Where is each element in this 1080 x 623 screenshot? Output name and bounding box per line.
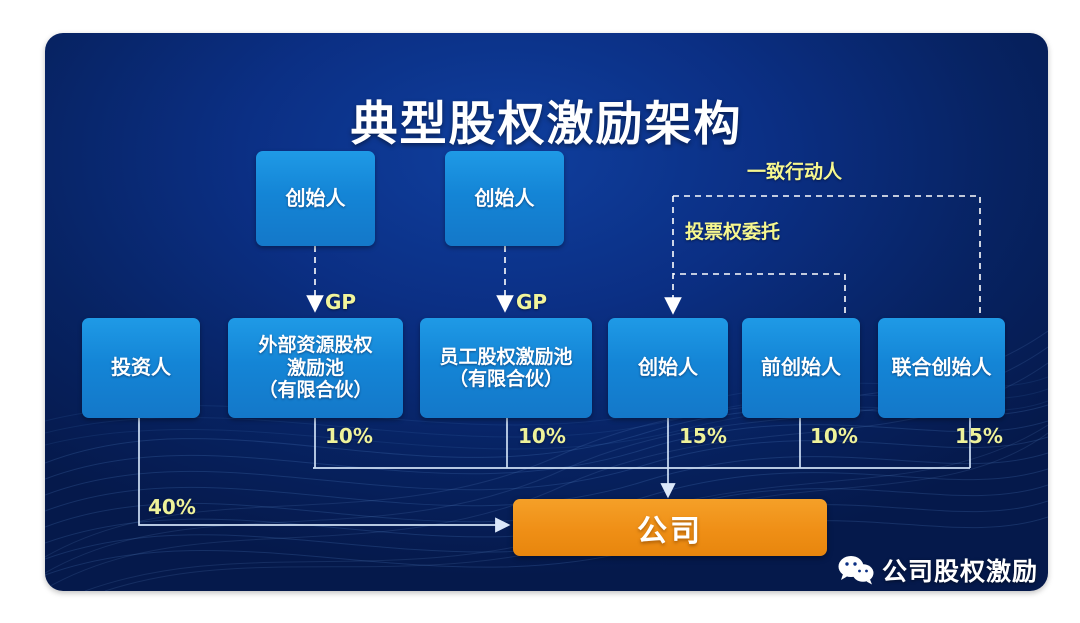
pct-co-founder: 15%	[955, 424, 1003, 448]
wechat-icon	[838, 555, 874, 585]
page-title: 典型股权激励架构	[45, 85, 1048, 154]
node-label: 创始人	[471, 187, 539, 211]
gp-label-1: GP	[325, 290, 356, 314]
pct-external-pool: 10%	[325, 424, 373, 448]
node-founder-2[interactable]: 创始人	[445, 151, 564, 246]
node-former-founder[interactable]: 前创始人	[742, 318, 860, 418]
slide-canvas: 典型股权激励架构 创始人 创始人 投资人 外部资源股权 激励池 （有限合伙） 员…	[0, 0, 1080, 623]
pct-founder: 15%	[679, 424, 727, 448]
node-employee-incentive-pool[interactable]: 员工股权激励池 （有限合伙）	[420, 318, 592, 418]
gp-label-2: GP	[516, 290, 547, 314]
node-investor[interactable]: 投资人	[82, 318, 200, 418]
node-label: 外部资源股权 激励池 （有限合伙）	[254, 334, 376, 401]
node-label: 联合创始人	[888, 356, 996, 380]
pct-employee-pool: 10%	[518, 424, 566, 448]
node-label: 投资人	[107, 356, 175, 380]
node-founder-3[interactable]: 创始人	[608, 318, 728, 418]
node-external-resource-pool[interactable]: 外部资源股权 激励池 （有限合伙）	[228, 318, 403, 418]
watermark: 公司股权激励	[838, 552, 1038, 588]
node-label: 创始人	[282, 187, 350, 211]
node-founder-1[interactable]: 创始人	[256, 151, 375, 246]
pct-investor: 40%	[148, 495, 196, 519]
node-label: 前创始人	[757, 356, 845, 380]
node-label: 员工股权激励池 （有限合伙）	[435, 346, 576, 391]
node-company[interactable]: 公司	[513, 499, 827, 556]
node-label: 创始人	[634, 356, 702, 380]
watermark-label: 公司股权激励	[882, 552, 1038, 588]
node-co-founder[interactable]: 联合创始人	[878, 318, 1005, 418]
note-concerted-action: 一致行动人	[747, 157, 842, 184]
node-label: 公司	[637, 506, 703, 550]
pct-former-founder: 10%	[810, 424, 858, 448]
note-voting-delegation: 投票权委托	[685, 217, 780, 244]
